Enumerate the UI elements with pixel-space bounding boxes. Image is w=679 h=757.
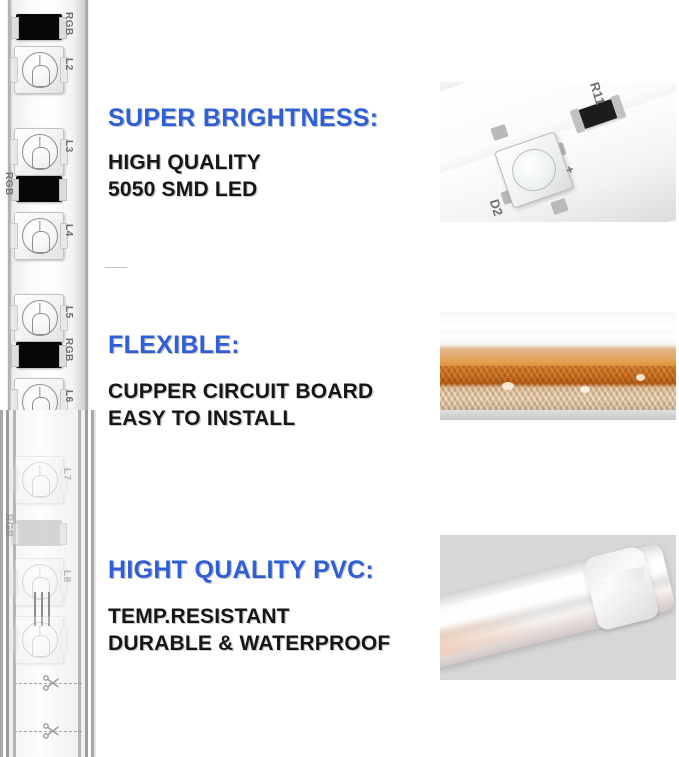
led-package-l2 <box>14 46 64 94</box>
silk-label-l7: L7 <box>61 468 72 481</box>
cut-line-marker <box>14 720 82 742</box>
feature-heading: FLEXIBLE: <box>108 331 373 360</box>
copper-speck <box>502 382 514 390</box>
led-pad-left <box>10 57 18 83</box>
copper-speck <box>636 374 645 381</box>
led-package-l5 <box>14 294 64 342</box>
feature-line-2: DURABLE & WATERPROOF <box>108 630 390 657</box>
led-package-end <box>14 616 64 664</box>
divider-artifact <box>105 267 127 268</box>
rgb-resistor <box>16 342 62 368</box>
led-strip-illustration: RGB L2 L3 RGB L4 L5 <box>0 0 104 757</box>
led-pad-left <box>10 305 18 331</box>
silk-label-rgb: RGB <box>3 172 14 196</box>
silk-label-l5: L5 <box>63 306 74 319</box>
feature-text-pvc: HIGHT QUALITY PVC: TEMP.RESISTANT DURABL… <box>108 556 390 657</box>
tube-highlight <box>440 334 676 364</box>
rgb-resistor <box>16 520 62 546</box>
silk-label-rgb: RGB <box>63 338 74 362</box>
feature-line-1: CUPPER CIRCUIT BOARD <box>108 378 373 405</box>
led-pad-left <box>10 467 18 493</box>
silk-label-l8: L8 <box>61 570 72 583</box>
feature-line-1: TEMP.RESISTANT <box>108 603 390 630</box>
led-dome <box>22 52 58 88</box>
photo-copper-circuit-board <box>440 290 676 440</box>
silk-label-l2: L2 <box>63 58 74 71</box>
photo-smd-led-macro: R11 D2 + <box>440 82 676 222</box>
led-package-l3 <box>14 128 64 176</box>
feature-text-flexible: FLEXIBLE: CUPPER CIRCUIT BOARD EASY TO I… <box>108 331 373 432</box>
silk-label-l3: L3 <box>63 140 74 153</box>
scissors-icon <box>40 721 62 741</box>
led-package-l7 <box>14 456 64 504</box>
feature-heading: SUPER BRIGHTNESS: <box>108 104 378 133</box>
led-lens <box>506 143 561 197</box>
feature-line-2: EASY TO INSTALL <box>108 405 373 432</box>
silk-label-l4: L4 <box>63 224 74 237</box>
led-pad-left <box>10 223 18 249</box>
photo-pvc-sleeve-end <box>440 535 676 680</box>
led-pad-right <box>60 627 68 653</box>
copper-speck <box>580 386 590 393</box>
led-package-l4 <box>14 212 64 260</box>
rgb-resistor <box>16 14 62 40</box>
feature-line-1: HIGH QUALITY <box>108 149 378 176</box>
scissors-icon <box>40 673 62 693</box>
rgb-resistor <box>16 176 62 202</box>
led-dome <box>22 300 58 336</box>
led-dome <box>22 134 58 170</box>
led-pad-left <box>10 569 18 595</box>
infographic-page: RGB L2 L3 RGB L4 L5 <box>0 0 679 757</box>
feature-text-brightness: SUPER BRIGHTNESS: HIGH QUALITY 5050 SMD … <box>108 104 378 203</box>
led-dome <box>22 462 58 498</box>
cut-line-marker <box>14 672 82 694</box>
silk-label-rgb: RGB <box>3 514 14 538</box>
led-pad-left <box>10 139 18 165</box>
feature-heading: HIGHT QUALITY PVC: <box>108 556 390 585</box>
pcb-edge-right <box>85 0 88 418</box>
feature-line-2: 5050 SMD LED <box>108 176 378 203</box>
pvc-sleeved-strip: L7 RGB L8 <box>0 410 96 757</box>
led-dome <box>22 218 58 254</box>
led-pad-left <box>10 627 18 653</box>
led-dome <box>22 622 58 658</box>
silk-label-rgb: RGB <box>63 12 74 36</box>
silk-label-l6: L6 <box>63 390 74 403</box>
copper-weave-texture <box>440 366 676 410</box>
pvc-tube-body <box>440 312 676 420</box>
